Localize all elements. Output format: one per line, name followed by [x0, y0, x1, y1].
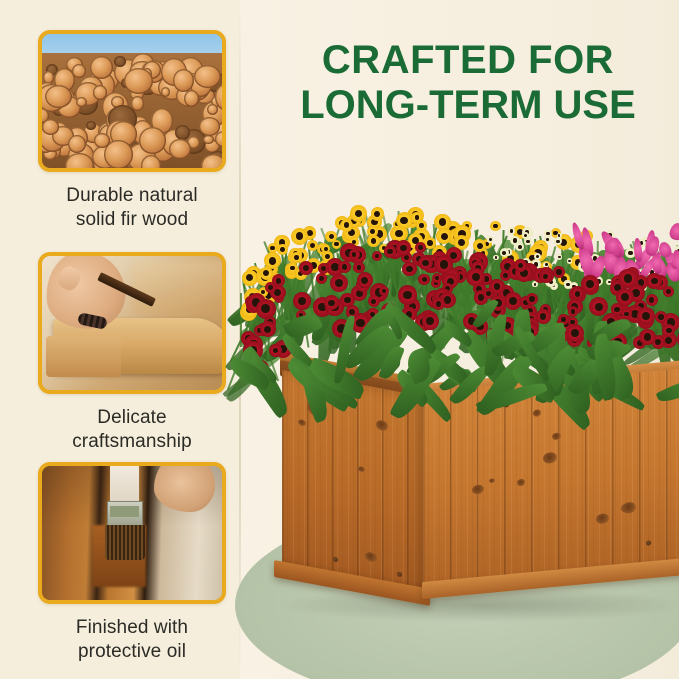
- yellow-daisy: [291, 252, 302, 263]
- log-end: [72, 64, 86, 79]
- feature-card-craftsmanship: Delicate craftsmanship: [38, 252, 226, 454]
- caption-line-1: Delicate: [97, 407, 166, 428]
- pink-lily: [669, 222, 679, 242]
- log-end: [194, 65, 221, 89]
- headline: Crafted For Long-Term Use: [268, 38, 668, 128]
- cream-bloom: [567, 258, 573, 264]
- cream-bloom: [522, 232, 529, 239]
- cream-bloom: [544, 230, 551, 237]
- feature-card-durable-wood: Durable natural solid fir wood: [38, 30, 226, 232]
- yellow-daisy: [367, 226, 378, 237]
- wood-workpiece-block: [46, 336, 122, 376]
- log-end: [139, 127, 166, 153]
- crimson-bloom: [540, 271, 551, 282]
- headline-line-2: Long-Term Use: [268, 83, 668, 128]
- brush-bristles: [105, 525, 145, 560]
- wood-knot: [533, 410, 542, 418]
- crimson-bloom: [526, 293, 539, 306]
- feature-thumbnail-logs: [38, 30, 226, 172]
- log-end: [141, 155, 161, 168]
- crimson-bloom: [372, 251, 382, 261]
- crimson-bloom: [299, 261, 312, 274]
- screw-head: [646, 540, 651, 545]
- product-scene: [240, 150, 679, 679]
- cream-bloom: [557, 233, 562, 238]
- crimson-bloom: [260, 321, 276, 337]
- crimson-bloom: [293, 292, 311, 310]
- screw-head: [397, 571, 402, 577]
- crimson-bloom: [432, 273, 442, 283]
- caption-line-2: craftsmanship: [72, 431, 192, 452]
- log-end: [184, 90, 199, 107]
- yellow-daisy: [490, 221, 501, 232]
- crimson-bloom: [514, 259, 526, 271]
- crimson-bloom: [646, 273, 662, 289]
- log-end: [42, 119, 59, 135]
- crimson-bloom: [402, 262, 417, 277]
- crimson-bloom: [663, 286, 674, 297]
- log-end: [199, 117, 221, 136]
- cream-bloom: [510, 236, 520, 246]
- crimson-bloom: [265, 282, 276, 293]
- crimson-bloom: [357, 272, 373, 288]
- crimson-bloom: [553, 266, 565, 278]
- wood-knot: [365, 551, 376, 562]
- feature-thumbnail-carving: [38, 252, 226, 394]
- crimson-bloom: [330, 274, 348, 292]
- workshop-blur-shelf: [132, 261, 222, 315]
- log-end: [207, 104, 219, 116]
- crimson-bloom: [396, 240, 411, 255]
- crimson-bloom: [379, 286, 389, 296]
- crimson-bloom: [422, 313, 439, 330]
- yellow-daisy: [396, 212, 413, 229]
- cream-bloom: [557, 254, 563, 260]
- brush-label: [110, 506, 139, 517]
- cream-bloom: [487, 236, 494, 243]
- wood-knot: [552, 432, 561, 440]
- caption-line-2: solid fir wood: [76, 209, 188, 230]
- feature-caption-craftsmanship: Delicate craftsmanship: [38, 406, 226, 454]
- crimson-bloom: [418, 256, 432, 270]
- crimson-bloom: [256, 299, 276, 319]
- screw-head: [333, 556, 338, 562]
- wood-knot: [622, 502, 636, 514]
- cream-bloom: [508, 227, 516, 235]
- log-end: [169, 139, 190, 159]
- crimson-bloom: [637, 307, 655, 325]
- wood-knot: [596, 513, 608, 524]
- yellow-daisy: [291, 228, 308, 245]
- crimson-bloom: [338, 261, 350, 273]
- wood-knot: [298, 419, 306, 427]
- wood-knot: [543, 452, 557, 464]
- headline-line-1: Crafted For: [322, 38, 614, 82]
- wood-knot: [376, 419, 388, 431]
- log-end: [45, 85, 72, 108]
- crimson-bloom: [568, 306, 579, 317]
- crimson-bloom: [398, 285, 417, 304]
- yellow-daisy: [307, 240, 318, 251]
- log-end: [173, 69, 194, 92]
- crimson-bloom: [434, 255, 453, 274]
- feature-thumbnail-oiling: [38, 462, 226, 604]
- crimson-bloom: [489, 279, 504, 294]
- feature-caption-protective-oil: Finished with protective oil: [38, 616, 226, 664]
- log-pile-image: [42, 53, 222, 168]
- wood-knot: [472, 484, 484, 494]
- crimson-bloom: [618, 269, 637, 288]
- crimson-bloom: [269, 344, 282, 357]
- wood-knot: [517, 479, 526, 487]
- feature-caption-durable-wood: Durable natural solid fir wood: [38, 184, 226, 232]
- log-end: [93, 85, 107, 99]
- yellow-daisy: [371, 207, 384, 220]
- crimson-bloom: [662, 324, 675, 337]
- cream-bloom: [493, 255, 499, 261]
- crimson-bloom: [566, 324, 584, 342]
- log-end: [86, 121, 96, 130]
- wood-knot: [358, 466, 365, 473]
- wood-knot: [489, 478, 495, 483]
- yellow-daisy: [350, 205, 367, 222]
- feature-card-protective-oil: Finished with protective oil: [38, 462, 226, 664]
- caption-line-1: Finished with: [76, 617, 188, 638]
- yellow-daisy: [340, 219, 353, 232]
- log-end: [124, 68, 153, 94]
- finger-detail: [55, 263, 83, 292]
- crimson-bloom: [646, 294, 658, 306]
- crimson-bloom: [349, 249, 360, 260]
- log-end: [201, 154, 222, 168]
- crimson-bloom: [616, 288, 634, 306]
- caption-line-2: protective oil: [78, 641, 186, 662]
- product-feature-graphic: Crafted For Long-Term Use Durable natura…: [0, 0, 679, 679]
- caption-line-1: Durable natural: [66, 185, 197, 206]
